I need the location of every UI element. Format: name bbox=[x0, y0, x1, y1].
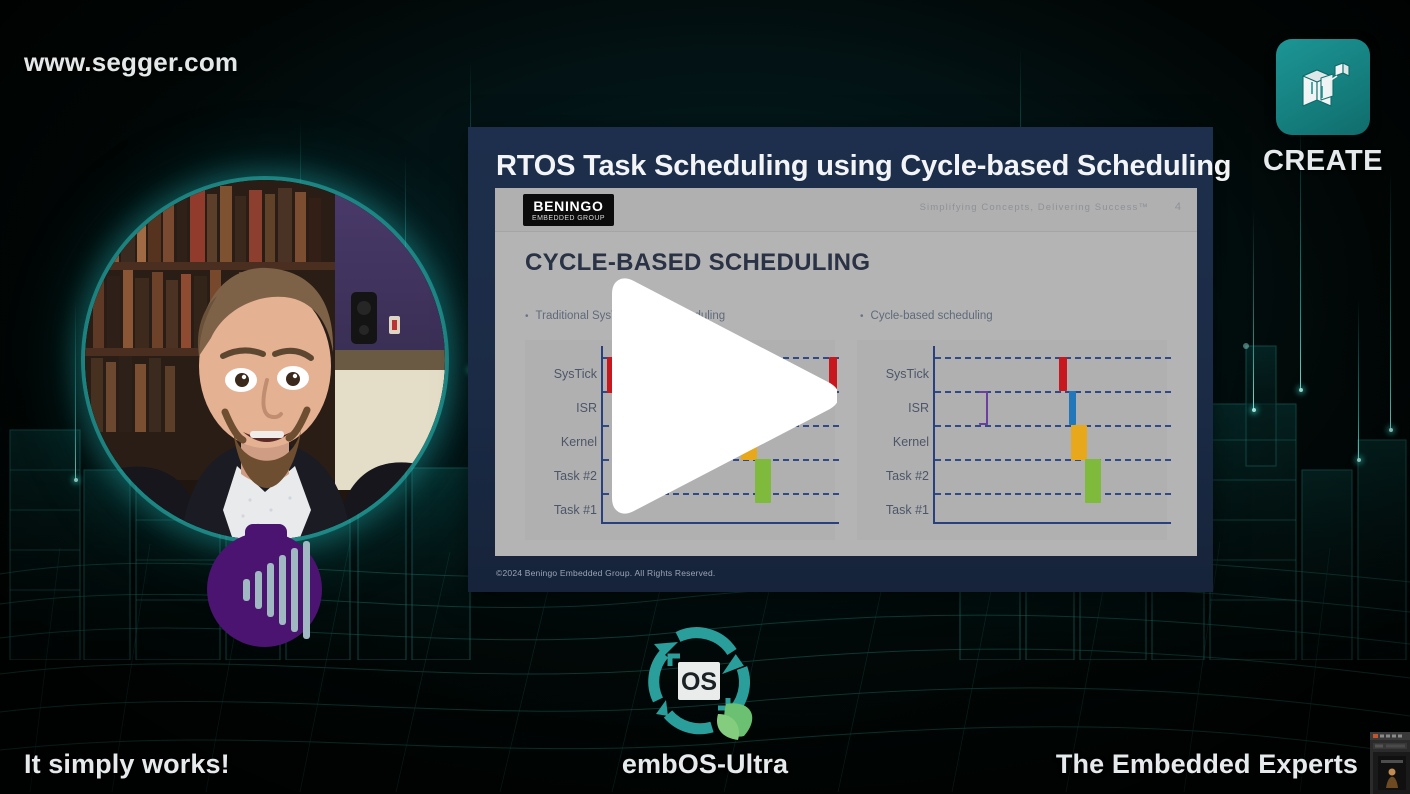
lane-label: SysTick bbox=[886, 367, 929, 381]
brand-tagline: Simplifying Concepts, Delivering Success… bbox=[920, 202, 1149, 213]
light-beam bbox=[1358, 300, 1359, 460]
event-bar-task1 bbox=[1085, 459, 1101, 503]
chart-lane-labels: SysTick ISR Kernel Task #2 Task #1 bbox=[857, 340, 931, 530]
bullet-dot: • bbox=[525, 312, 529, 322]
lane-label: Kernel bbox=[561, 435, 597, 449]
embos-logo-glyph: OS bbox=[634, 622, 764, 744]
bullet-label: Cycle-based scheduling bbox=[871, 310, 993, 322]
chart-plot-area bbox=[933, 346, 1171, 524]
beningo-name: BENINGO bbox=[532, 199, 605, 213]
slide-content-card: BENINGO EMBEDDED GROUP Simplifying Conce… bbox=[495, 188, 1197, 556]
tagline-left: It simply works! bbox=[24, 749, 230, 780]
presenter-webcam[interactable] bbox=[85, 180, 445, 540]
site-url-text: www.segger.com bbox=[24, 47, 238, 78]
gridline bbox=[935, 391, 1171, 393]
lane-label: SysTick bbox=[554, 367, 597, 381]
play-button[interactable] bbox=[612, 272, 837, 520]
waveform-bars bbox=[243, 532, 314, 647]
beningo-logo: BENINGO EMBEDDED GROUP bbox=[523, 194, 614, 226]
event-bar-kernel bbox=[1069, 391, 1076, 425]
corner-window-thumbnail[interactable] bbox=[1364, 726, 1410, 794]
lane-label: Task #1 bbox=[886, 503, 929, 517]
cube-blocks-icon bbox=[1276, 39, 1370, 135]
bullet-item: • Cycle-based scheduling bbox=[860, 310, 993, 322]
event-bar-systick bbox=[1059, 357, 1067, 391]
create-logo-block[interactable]: CREATE bbox=[1243, 39, 1403, 178]
lane-label: Task #2 bbox=[886, 469, 929, 483]
video-player-frame: www.segger.com CREATE bbox=[0, 0, 1410, 794]
slide-copyright-footer: ©2024 Beningo Embedded Group. All Rights… bbox=[496, 568, 715, 578]
slide-page-number: 4 bbox=[1175, 201, 1181, 213]
gridline bbox=[935, 459, 1171, 461]
bullet-dot: • bbox=[860, 312, 864, 322]
slide-card-header: BENINGO EMBEDDED GROUP Simplifying Conce… bbox=[495, 188, 1197, 232]
tagline-center: embOS-Ultra bbox=[622, 749, 788, 780]
create-label: CREATE bbox=[1243, 145, 1403, 178]
gridline bbox=[935, 357, 1171, 359]
lane-label: ISR bbox=[908, 401, 929, 415]
lane-label: Kernel bbox=[893, 435, 929, 449]
webcam-video-frame bbox=[85, 180, 445, 540]
svg-text:OS: OS bbox=[681, 668, 717, 696]
charts-row: SysTick ISR Kernel Task #2 Task #1 bbox=[495, 340, 1197, 540]
light-beam bbox=[75, 300, 76, 480]
slide-title: RTOS Task Scheduling using Cycle-based S… bbox=[496, 150, 1196, 183]
gridline bbox=[935, 493, 1171, 495]
bullets-row: • Traditional SysTick-based scheduling •… bbox=[495, 310, 1197, 322]
event-bar-isr bbox=[979, 391, 988, 425]
play-triangle-icon[interactable] bbox=[612, 272, 837, 520]
cube-blocks-glyph bbox=[1291, 56, 1355, 118]
presentation-slide-panel: RTOS Task Scheduling using Cycle-based S… bbox=[468, 127, 1213, 592]
chart-cycle-based: SysTick ISR Kernel Task #2 Task #1 bbox=[857, 340, 1167, 540]
beningo-subtitle: EMBEDDED GROUP bbox=[532, 215, 605, 222]
lane-label: Task #1 bbox=[554, 503, 597, 517]
audio-waveform-icon[interactable] bbox=[207, 532, 322, 647]
gridline bbox=[935, 425, 1171, 427]
event-bar-task2 bbox=[1071, 425, 1087, 460]
embos-cycle-leaf-icon: OS bbox=[634, 622, 764, 744]
chart-lane-labels: SysTick ISR Kernel Task #2 Task #1 bbox=[525, 340, 599, 530]
lane-label: ISR bbox=[576, 401, 597, 415]
tagline-right: The Embedded Experts bbox=[1056, 749, 1358, 780]
light-beam bbox=[1253, 210, 1254, 410]
lane-label: Task #2 bbox=[554, 469, 597, 483]
window-thumbnail-glyph bbox=[1364, 726, 1410, 794]
light-beam bbox=[1390, 170, 1391, 430]
